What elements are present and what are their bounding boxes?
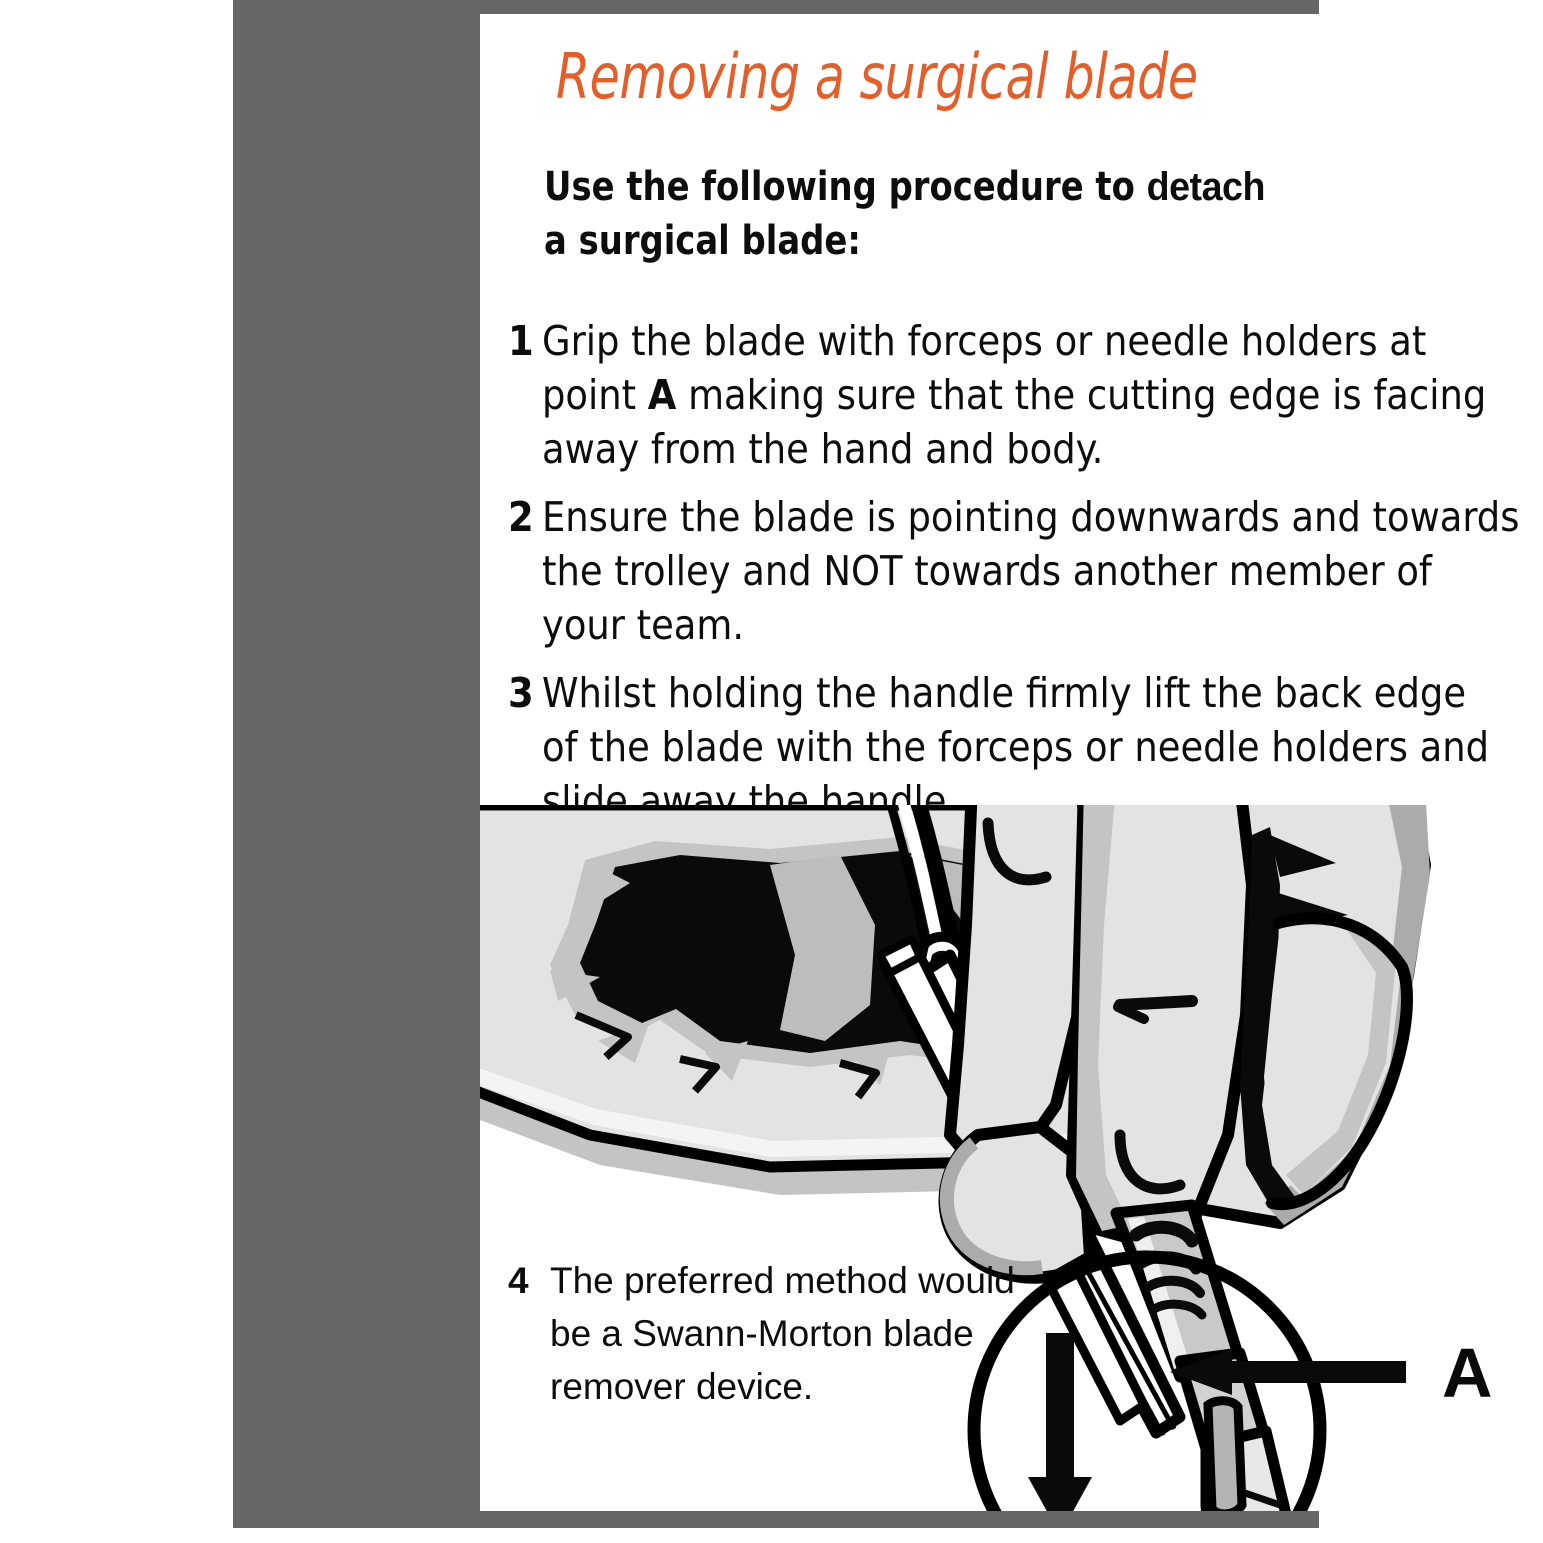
down-arrow-shaft — [1046, 1333, 1074, 1483]
step-number: 1 — [508, 314, 542, 476]
intro-text-after: a surgical blade: — [544, 218, 861, 264]
step-text: Grip the blade with forceps or needle ho… — [542, 314, 1498, 476]
step-number: 4 — [508, 1254, 550, 1413]
step-number: 3 — [508, 666, 542, 828]
document-frame-border: Removing a surgical blade Use the follow… — [233, 0, 1319, 1528]
procedure-step-4: 4 The preferred method would be a Swann-… — [508, 1254, 1038, 1413]
down-arrow-head — [1028, 1477, 1092, 1511]
instruction-card: Removing a surgical blade Use the follow… — [480, 14, 1530, 1511]
step-number: 2 — [508, 490, 542, 652]
procedure-step-2: 2 Ensure the blade is pointing downwards… — [508, 490, 1520, 652]
intro-paragraph: Use the following procedure to detach a … — [544, 160, 1287, 268]
step-emphasis-point-a: A — [648, 371, 677, 419]
page-root: Removing a surgical blade Use the follow… — [0, 0, 1543, 1543]
intro-emphasis-detach: detach — [1147, 165, 1265, 209]
procedure-step-3: 3 Whilst holding the handle firmly lift … — [508, 666, 1498, 828]
step-text-part-b: making sure that the cutting edge is fac… — [542, 371, 1486, 473]
procedure-step-1: 1 Grip the blade with forceps or needle … — [508, 314, 1498, 476]
step-text: The preferred method would be a Swann-Mo… — [550, 1254, 1038, 1413]
blade-mounting-slot — [1208, 1401, 1242, 1511]
callout-arrow-shaft — [1224, 1361, 1406, 1383]
middle-finger-crease — [1120, 1001, 1192, 1005]
intro-text-before: Use the following procedure to — [544, 164, 1147, 210]
page-title: Removing a surgical blade — [556, 40, 1383, 114]
step-text: Ensure the blade is pointing downwards a… — [542, 490, 1520, 652]
step-text: Whilst holding the handle firmly lift th… — [542, 666, 1498, 828]
callout-label-a: A — [1442, 1334, 1493, 1412]
